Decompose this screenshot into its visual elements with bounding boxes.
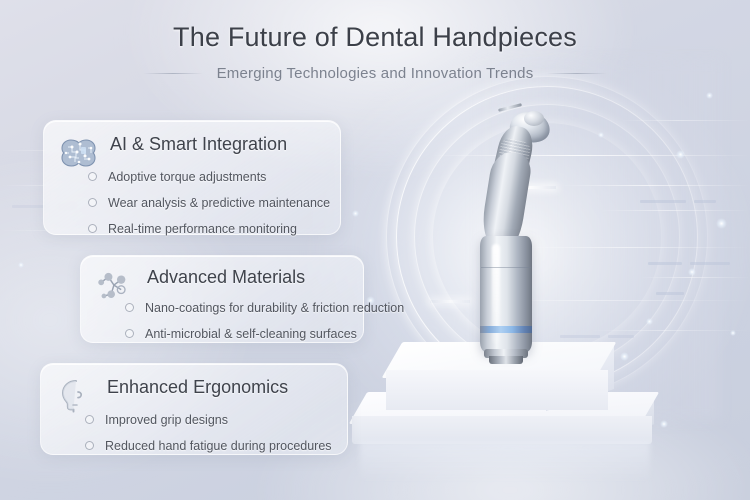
light-streak	[600, 210, 750, 211]
handpiece-seam	[481, 267, 531, 268]
light-streak	[640, 277, 750, 278]
particle	[18, 262, 24, 268]
data-bar	[690, 262, 730, 265]
feature-card-materials[interactable]: Advanced Materials Nano-coatings for dur…	[80, 255, 364, 343]
bullet-circle-icon	[88, 172, 97, 181]
particle	[676, 150, 685, 159]
bullet-circle-icon	[88, 198, 97, 207]
handpiece-blue-band	[480, 326, 532, 333]
list-item-label: Reduced hand fatigue during procedures	[105, 439, 332, 453]
card-heading: AI & Smart Integration	[110, 134, 287, 155]
handpiece-bur	[498, 103, 522, 112]
infographic-canvas: The Future of Dental Handpieces Emerging…	[0, 0, 750, 500]
list-item: Adoptive torque adjustments	[88, 165, 330, 188]
dental-handpiece-image	[452, 104, 572, 356]
particle	[352, 210, 359, 217]
pedestal-upper-front	[386, 370, 608, 410]
particle	[646, 318, 653, 325]
feature-card-ergonomics[interactable]: Enhanced Ergonomics Improved grip design…	[40, 363, 348, 455]
particle	[716, 218, 727, 229]
page-title: The Future of Dental Handpieces	[0, 22, 750, 53]
bullet-circle-icon	[125, 303, 134, 312]
bullet-circle-icon	[85, 415, 94, 424]
list-item: Improved grip designs	[85, 408, 332, 431]
header: The Future of Dental Handpieces Emerging…	[0, 22, 750, 82]
card-heading: Enhanced Ergonomics	[107, 377, 288, 398]
feature-list: Nano-coatings for durability & friction …	[125, 296, 404, 345]
particle	[598, 132, 604, 138]
list-item: Reduced hand fatigue during procedures	[85, 434, 332, 457]
feature-list: Improved grip designs Reduced hand fatig…	[85, 408, 332, 457]
data-bar	[656, 292, 684, 295]
light-streak	[560, 185, 750, 186]
divider-right	[547, 73, 607, 74]
bullet-circle-icon	[85, 441, 94, 450]
bullet-circle-icon	[88, 224, 97, 233]
pedestal-lower-front	[352, 416, 652, 444]
list-item: Wear analysis & predictive maintenance	[88, 191, 330, 214]
list-item-label: Nano-coatings for durability & friction …	[145, 301, 404, 315]
handpiece-body	[480, 236, 532, 352]
data-bar	[648, 262, 682, 265]
particle	[730, 330, 736, 336]
list-item-label: Improved grip designs	[105, 413, 228, 427]
light-streak	[620, 120, 750, 121]
card-heading: Advanced Materials	[147, 267, 305, 288]
bullet-circle-icon	[125, 329, 134, 338]
list-item-label: Anti-microbial & self-cleaning surfaces	[145, 327, 357, 341]
data-bar	[694, 200, 716, 203]
subtitle-row: Emerging Technologies and Innovation Tre…	[0, 65, 750, 82]
feature-list: Adoptive torque adjustments Wear analysi…	[88, 165, 330, 240]
divider-left	[143, 73, 203, 74]
pedestal-reflection	[360, 442, 650, 482]
list-item-label: Adoptive torque adjustments	[108, 170, 266, 184]
list-item-label: Real-time performance monitoring	[108, 222, 297, 236]
list-item-label: Wear analysis & predictive maintenance	[108, 196, 330, 210]
list-item: Anti-microbial & self-cleaning surfaces	[125, 322, 404, 345]
page-subtitle: Emerging Technologies and Innovation Tre…	[217, 65, 534, 82]
particle	[706, 92, 713, 99]
handpiece-head-cap	[524, 111, 544, 126]
list-item: Nano-coatings for durability & friction …	[125, 296, 404, 319]
handpiece-base	[489, 356, 523, 364]
particle	[688, 268, 696, 276]
data-bar	[640, 200, 686, 203]
list-item: Real-time performance monitoring	[88, 217, 330, 240]
feature-card-ai[interactable]: AI & Smart Integration Adoptive torque a…	[43, 120, 341, 235]
